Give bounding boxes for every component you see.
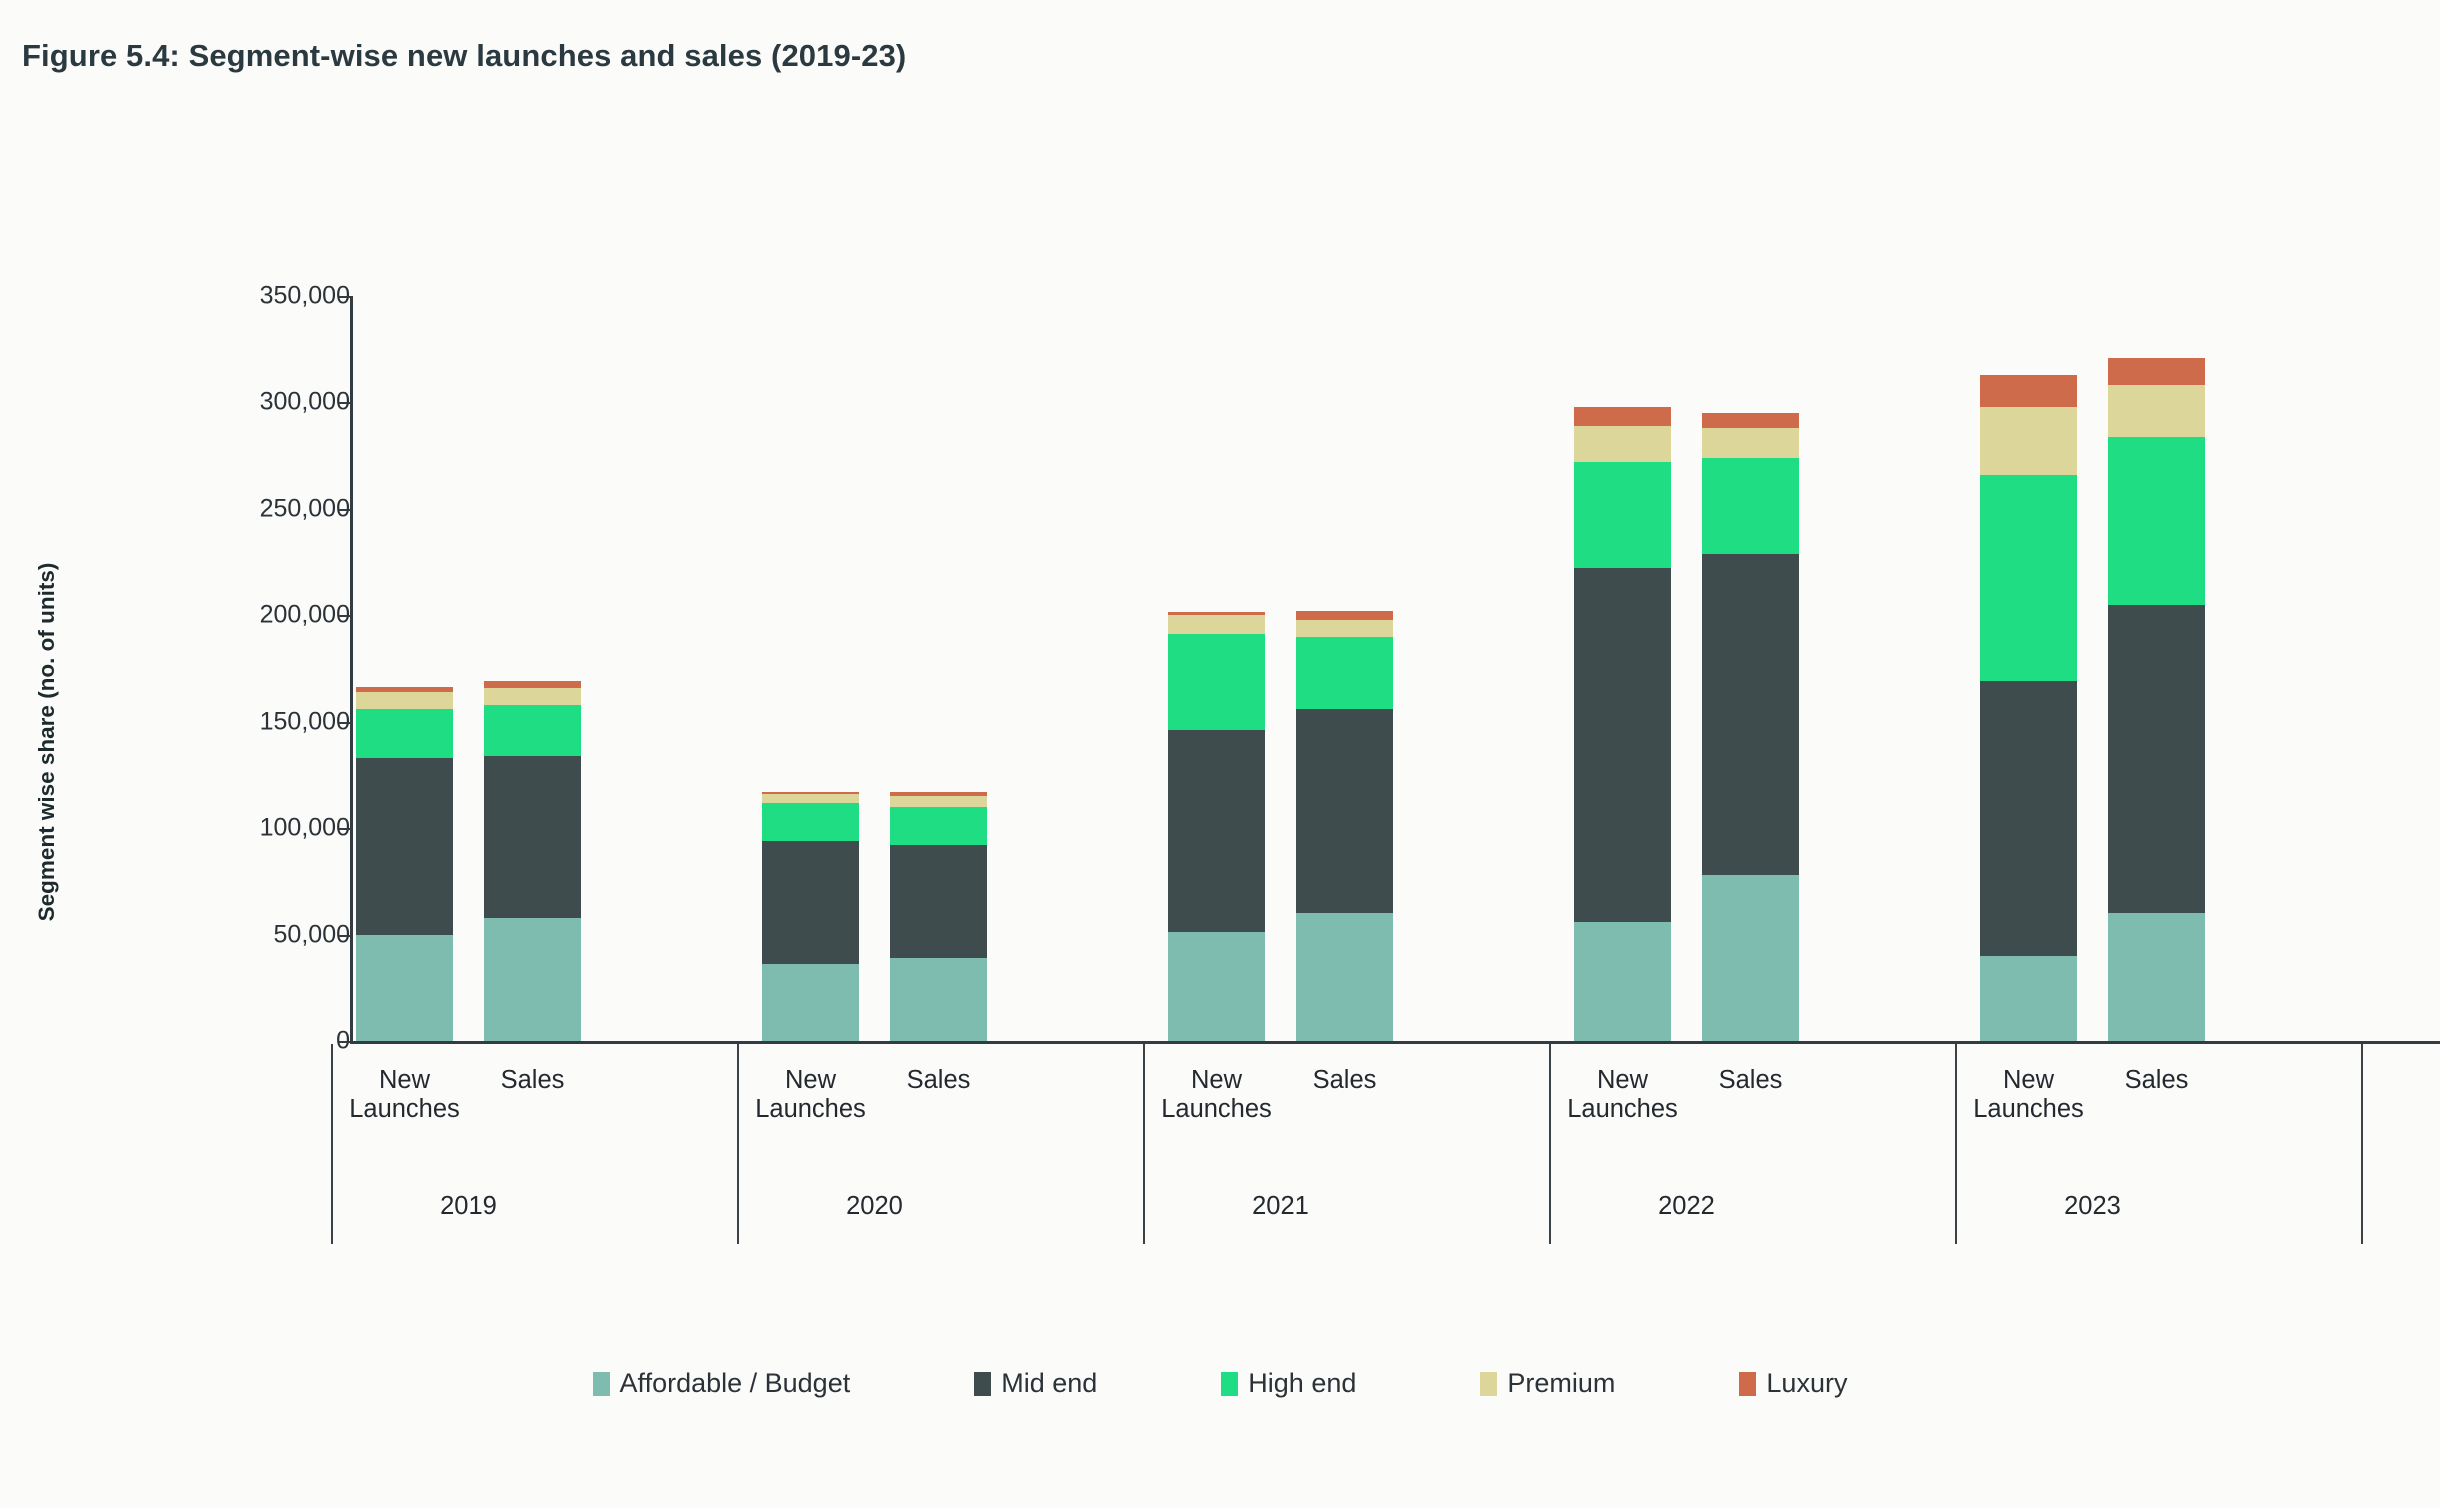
bar-segment[interactable]: [1296, 913, 1393, 1041]
group-separator: [331, 1044, 333, 1244]
y-axis-tick-label: 250,000: [175, 494, 350, 523]
x-axis-label-sales: Sales: [460, 1066, 605, 1095]
bar-segment[interactable]: [1980, 681, 2077, 956]
legend-item[interactable]: Mid end: [974, 1368, 1097, 1399]
y-axis-tick-labels: 350,000300,000250,000200,000150,000100,0…: [160, 296, 350, 1043]
category-axis: NewLaunchesSalesNewLaunchesSalesNewLaunc…: [350, 1044, 2440, 1244]
bar-segment[interactable]: [762, 964, 859, 1041]
bar-segment[interactable]: [1168, 615, 1265, 634]
bar-segment[interactable]: [356, 692, 453, 709]
x-axis-group-label-2022: 2022: [1574, 1192, 1799, 1221]
bar-segment[interactable]: [1702, 428, 1799, 458]
x-axis-label-line1: New: [332, 1066, 477, 1095]
x-axis-label-line1: New: [1144, 1066, 1289, 1095]
chart-legend: Affordable / BudgetMid endHigh endPremiu…: [0, 1368, 2440, 1399]
bar-segment[interactable]: [762, 794, 859, 803]
bar-segment[interactable]: [1296, 709, 1393, 913]
x-axis-label-line2: Launches: [738, 1095, 883, 1124]
legend-label: High end: [1248, 1368, 1356, 1399]
bar-segment[interactable]: [2108, 358, 2205, 386]
bar-segment[interactable]: [1702, 875, 1799, 1041]
group-separator: [737, 1044, 739, 1244]
legend-item[interactable]: Affordable / Budget: [593, 1368, 851, 1399]
bar-stack[interactable]: [2108, 358, 2205, 1041]
bar-segment[interactable]: [762, 803, 859, 841]
x-axis-label-line2: Launches: [1956, 1095, 2101, 1124]
figure-container: Figure 5.4: Segment-wise new launches an…: [0, 0, 2440, 1508]
group-separator: [1549, 1044, 1551, 1244]
bar-segment[interactable]: [484, 756, 581, 918]
bar-segment[interactable]: [1702, 554, 1799, 875]
legend-item[interactable]: Premium: [1480, 1368, 1615, 1399]
bar-segment[interactable]: [2108, 913, 2205, 1041]
y-axis-tick-label: 100,000: [175, 814, 350, 843]
x-axis-label-new-launches: NewLaunches: [332, 1066, 477, 1123]
bar-stack[interactable]: [484, 681, 581, 1041]
legend-label: Luxury: [1766, 1368, 1847, 1399]
group-separator: [1955, 1044, 1957, 1244]
legend-swatch-icon: [1739, 1372, 1756, 1396]
bar-stack[interactable]: [762, 792, 859, 1041]
x-axis-group-label-2023: 2023: [1980, 1192, 2205, 1221]
bar-stack[interactable]: [890, 792, 987, 1041]
legend-label: Mid end: [1001, 1368, 1097, 1399]
x-axis-label-sales: Sales: [866, 1066, 1011, 1095]
bar-segment[interactable]: [890, 796, 987, 807]
bar-segment[interactable]: [356, 935, 453, 1041]
bar-stack[interactable]: [356, 687, 453, 1041]
y-axis-title: Segment wise share (no. of units): [34, 462, 60, 1022]
bar-segment[interactable]: [356, 758, 453, 935]
bar-segment[interactable]: [356, 709, 453, 758]
bar-segment[interactable]: [1296, 611, 1393, 620]
bar-stack[interactable]: [1296, 611, 1393, 1041]
plot-area: [352, 296, 2434, 1041]
bar-segment[interactable]: [890, 807, 987, 845]
x-axis-label-new-launches: NewLaunches: [1956, 1066, 2101, 1123]
bar-segment[interactable]: [1980, 407, 2077, 475]
bar-segment[interactable]: [1702, 458, 1799, 554]
x-axis-label-line1: New: [738, 1066, 883, 1095]
x-axis-group-label-2019: 2019: [356, 1192, 581, 1221]
group-separator: [2361, 1044, 2363, 1244]
y-axis-tick-label: 0: [175, 1027, 350, 1056]
bar-segment[interactable]: [1702, 413, 1799, 428]
page-title: Figure 5.4: Segment-wise new launches an…: [22, 38, 906, 74]
legend-label: Premium: [1507, 1368, 1615, 1399]
x-axis-label-line2: Launches: [1144, 1095, 1289, 1124]
legend-label: Affordable / Budget: [620, 1368, 851, 1399]
bar-stack[interactable]: [1168, 612, 1265, 1041]
bar-segment[interactable]: [484, 705, 581, 756]
bar-segment[interactable]: [890, 845, 987, 958]
bar-segment[interactable]: [484, 688, 581, 705]
x-axis-label-line2: Launches: [1550, 1095, 1695, 1124]
x-axis-label-new-launches: NewLaunches: [1550, 1066, 1695, 1123]
legend-item[interactable]: High end: [1221, 1368, 1356, 1399]
bar-stack[interactable]: [1980, 375, 2077, 1041]
x-axis-label-sales: Sales: [2084, 1066, 2229, 1095]
bar-segment[interactable]: [1168, 932, 1265, 1041]
y-axis-tick-label: 350,000: [175, 282, 350, 311]
legend-swatch-icon: [974, 1372, 991, 1396]
y-axis-tick-label: 300,000: [175, 388, 350, 417]
legend-item[interactable]: Luxury: [1739, 1368, 1847, 1399]
x-axis-label-line2: Launches: [332, 1095, 477, 1124]
bar-segment[interactable]: [1574, 568, 1671, 921]
x-axis-label-line1: New: [1956, 1066, 2101, 1095]
bar-segment[interactable]: [1980, 375, 2077, 407]
y-axis-tick-label: 150,000: [175, 707, 350, 736]
bar-stack[interactable]: [1702, 413, 1799, 1041]
bar-segment[interactable]: [1574, 922, 1671, 1041]
bar-segment[interactable]: [1980, 956, 2077, 1041]
legend-swatch-icon: [1221, 1372, 1238, 1396]
bar-segment[interactable]: [1296, 637, 1393, 709]
bar-segment[interactable]: [1574, 462, 1671, 568]
x-axis-group-label-2021: 2021: [1168, 1192, 1393, 1221]
x-axis-label-sales: Sales: [1272, 1066, 1417, 1095]
bar-stack[interactable]: [1574, 407, 1671, 1041]
bar-segment[interactable]: [1168, 634, 1265, 730]
group-separator: [1143, 1044, 1145, 1244]
bar-segment[interactable]: [1168, 730, 1265, 932]
bar-segment[interactable]: [2108, 385, 2205, 436]
legend-swatch-icon: [1480, 1372, 1497, 1396]
bar-segment[interactable]: [1980, 475, 2077, 681]
bar-segment[interactable]: [1574, 426, 1671, 462]
x-axis-label-sales: Sales: [1678, 1066, 1823, 1095]
x-axis-group-label-2020: 2020: [762, 1192, 987, 1221]
y-axis-tick-label: 200,000: [175, 601, 350, 630]
x-axis-label-new-launches: NewLaunches: [738, 1066, 883, 1123]
bar-segment[interactable]: [1296, 620, 1393, 637]
bar-segment[interactable]: [890, 958, 987, 1041]
bar-segment[interactable]: [2108, 605, 2205, 914]
bar-segment[interactable]: [1574, 407, 1671, 426]
bar-segment[interactable]: [2108, 437, 2205, 605]
x-axis-label-line1: New: [1550, 1066, 1695, 1095]
bar-segment[interactable]: [762, 841, 859, 964]
legend-swatch-icon: [593, 1372, 610, 1396]
bar-segment[interactable]: [484, 918, 581, 1041]
x-axis-label-new-launches: NewLaunches: [1144, 1066, 1289, 1123]
y-axis-tick-label: 50,000: [175, 920, 350, 949]
